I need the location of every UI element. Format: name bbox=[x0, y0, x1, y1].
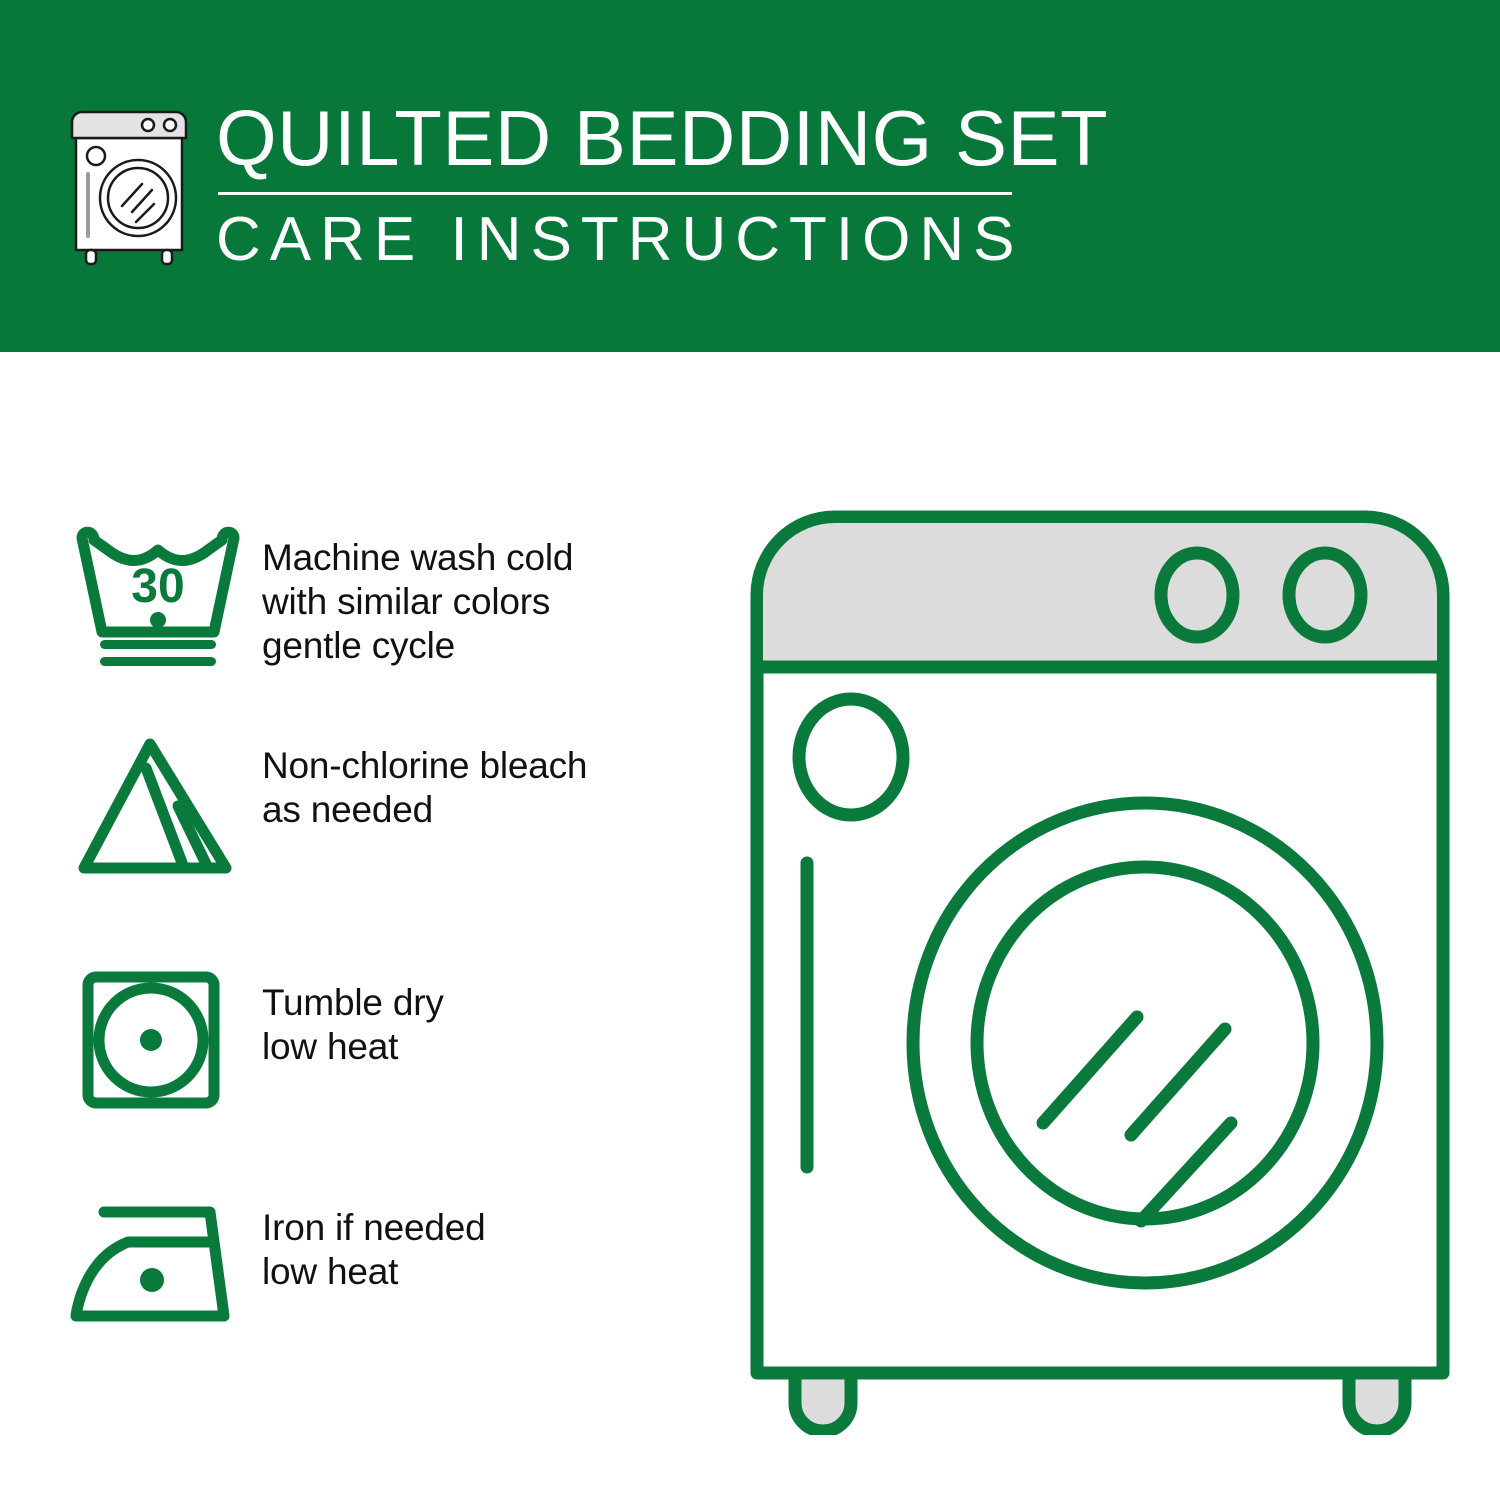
care-instructions-page: QUILTED BEDDING SET CARE INSTRUCTIONS 30 bbox=[0, 0, 1500, 1500]
title-divider bbox=[218, 192, 1012, 195]
washing-machine-icon bbox=[62, 108, 202, 268]
care-text-line: low heat bbox=[262, 1250, 485, 1294]
care-text-line: Non-chlorine bleach bbox=[262, 744, 587, 788]
care-instruction-text: Tumble dry low heat bbox=[248, 965, 444, 1069]
care-text-line: Machine wash cold bbox=[262, 536, 573, 580]
care-instruction-item: Tumble dry low heat bbox=[0, 965, 720, 1115]
care-text-line: with similar colors bbox=[262, 580, 573, 624]
care-text-line: gentle cycle bbox=[262, 624, 573, 668]
header-band: QUILTED BEDDING SET CARE INSTRUCTIONS bbox=[0, 0, 1500, 352]
care-text-line: low heat bbox=[262, 1025, 444, 1069]
wash-temperature-label: 30 bbox=[131, 560, 184, 613]
header-text-block: QUILTED BEDDING SET CARE INSTRUCTIONS bbox=[216, 96, 1016, 275]
care-instruction-item: Iron if needed low heat bbox=[0, 1190, 720, 1340]
care-instruction-text: Iron if needed low heat bbox=[248, 1190, 485, 1294]
page-subtitle: CARE INSTRUCTIONS bbox=[216, 205, 1016, 275]
tumble-dry-low-icon bbox=[68, 965, 248, 1115]
non-chlorine-bleach-triangle-icon bbox=[68, 728, 248, 878]
care-instruction-text: Machine wash cold with similar colors ge… bbox=[248, 520, 573, 668]
front-load-washing-machine-illustration bbox=[745, 495, 1455, 1435]
care-text-line: as needed bbox=[262, 788, 587, 832]
care-text-line: Tumble dry bbox=[262, 981, 444, 1025]
care-instruction-text: Non-chlorine bleach as needed bbox=[248, 728, 587, 832]
wash-tub-30-gentle-icon: 30 bbox=[68, 520, 248, 670]
care-instruction-item: 30 Machine wash cold with similar colors… bbox=[0, 520, 720, 670]
page-title: QUILTED BEDDING SET bbox=[216, 96, 1016, 180]
care-text-line: Iron if needed bbox=[262, 1206, 485, 1250]
iron-low-heat-icon bbox=[68, 1190, 248, 1340]
care-instruction-item: Non-chlorine bleach as needed bbox=[0, 728, 720, 878]
